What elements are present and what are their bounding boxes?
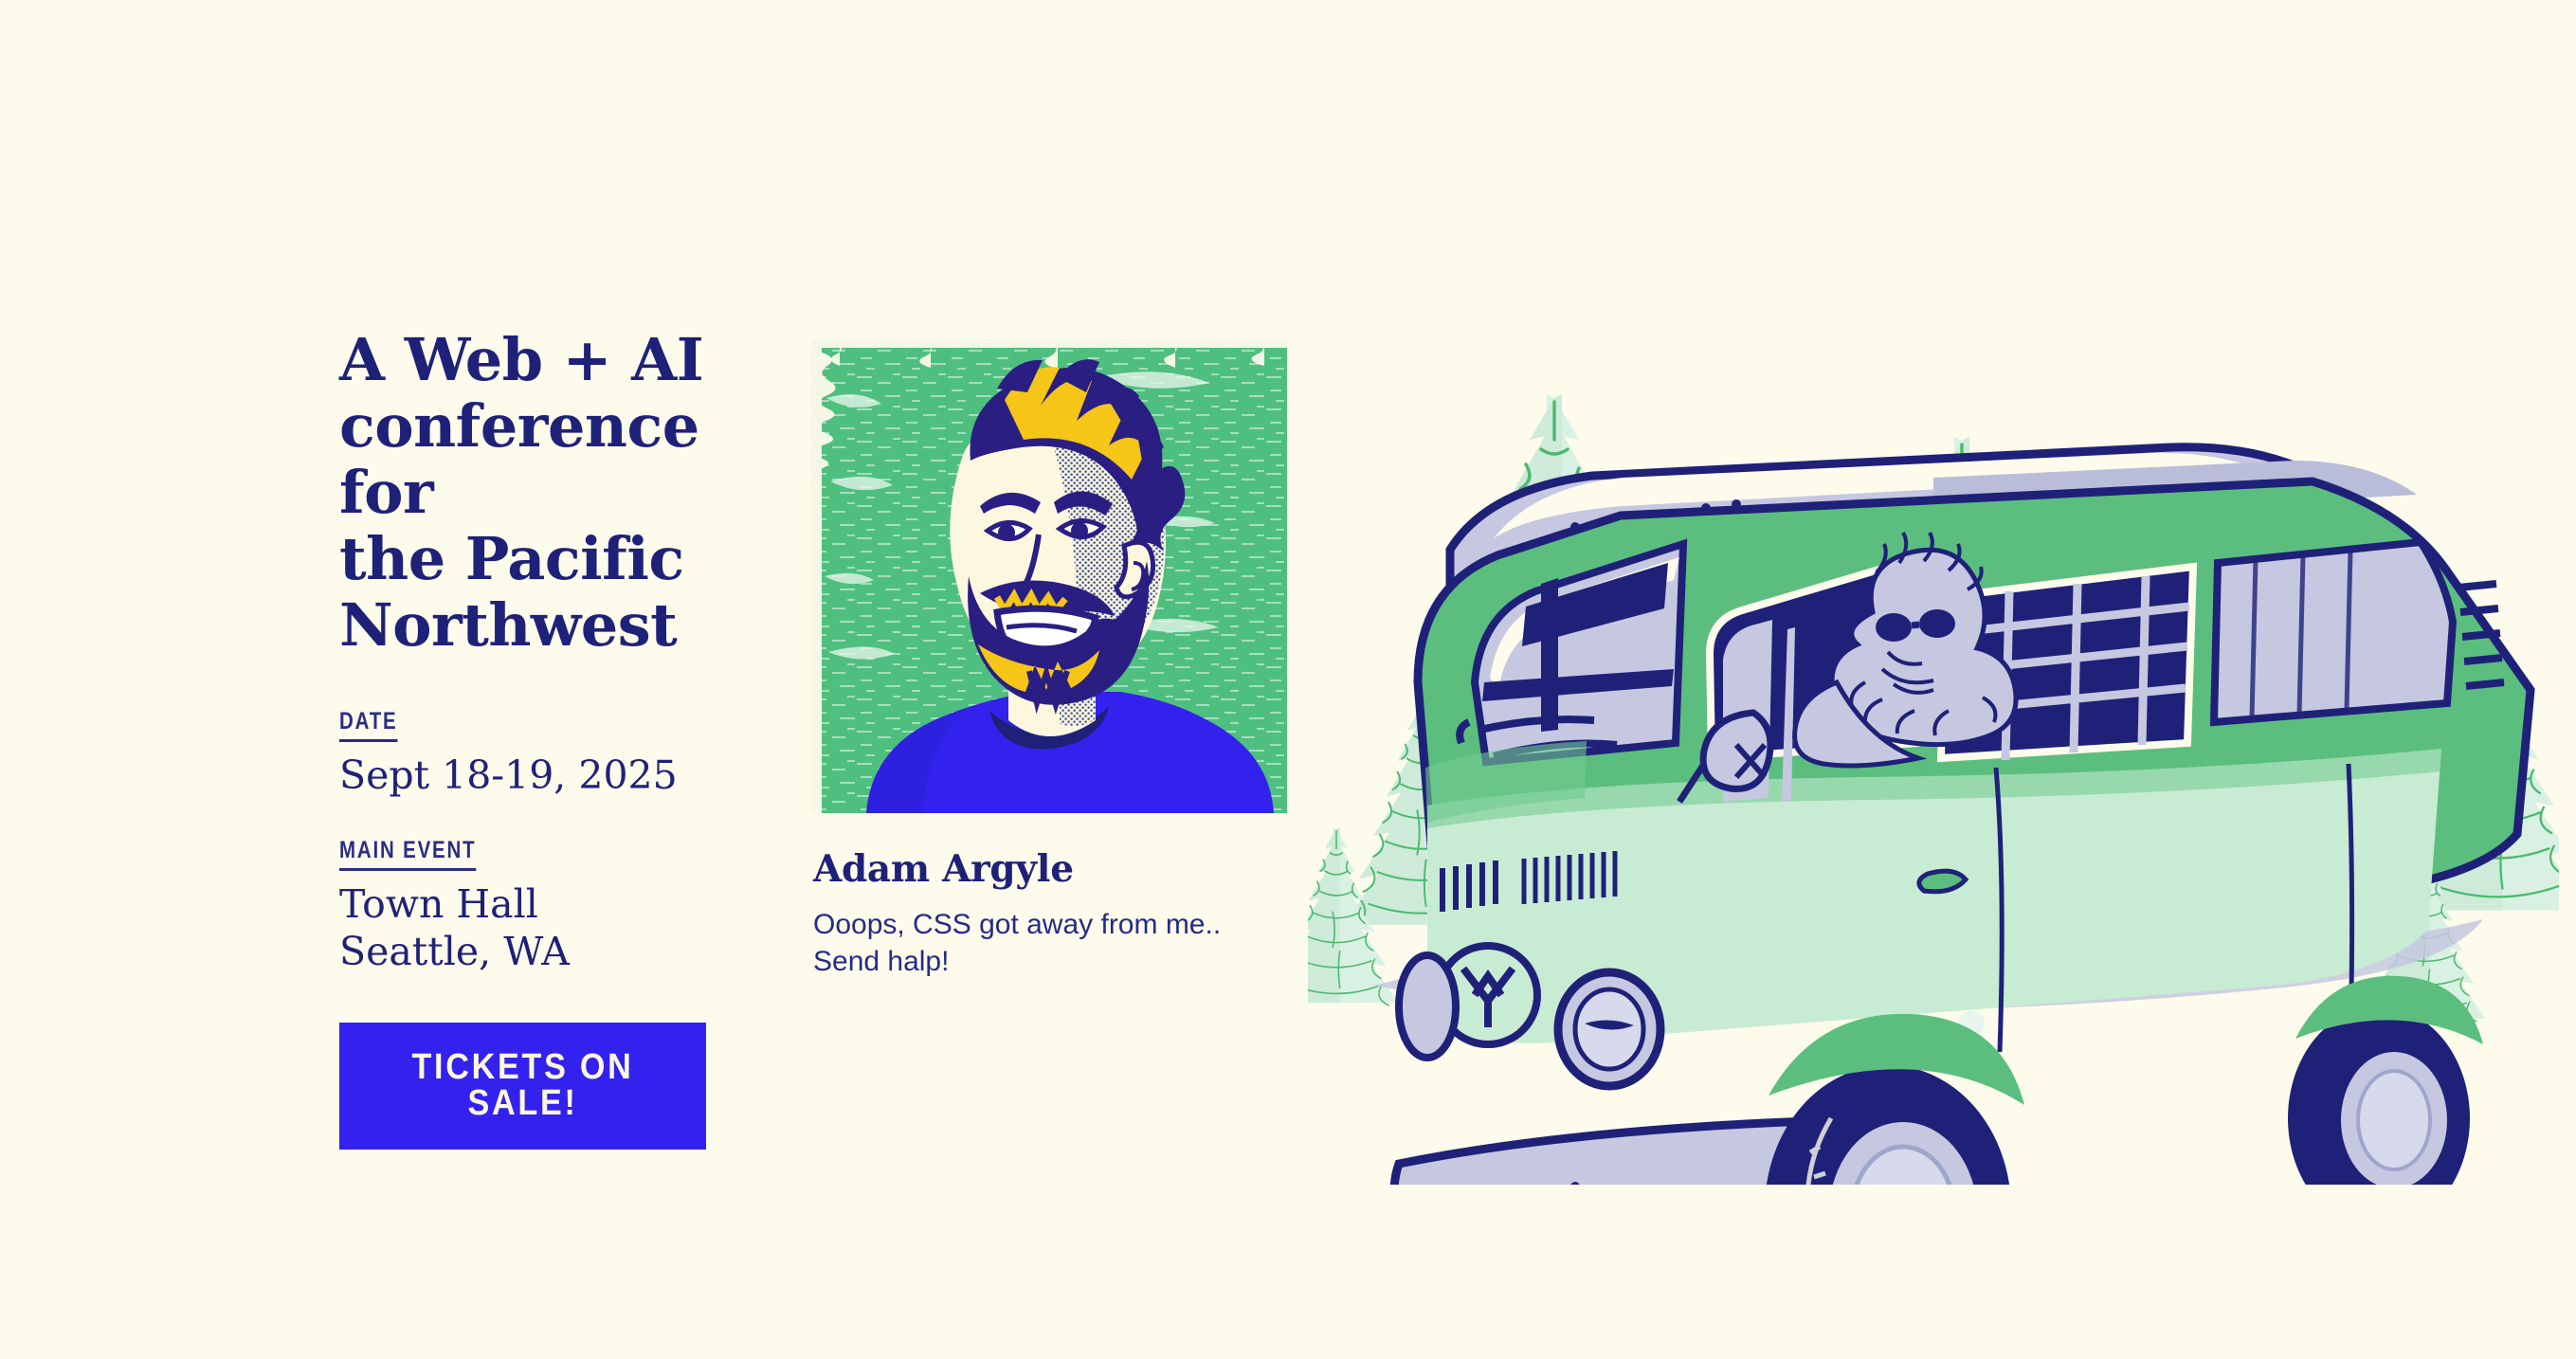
- speaker-portrait: [811, 339, 1287, 813]
- event-meta: DATE Sept 18-19, 2025 MAIN EVENT Town Ha…: [339, 708, 747, 975]
- tickets-on-sale-button[interactable]: TICKETS ON SALE!: [339, 1023, 706, 1150]
- hero-banner: A Web + AI conference for the Pacific No…: [0, 0, 2576, 1359]
- speaker-card[interactable]: Adam Argyle Ooops, CSS got away from me.…: [811, 339, 1287, 980]
- speaker-quote: Ooops, CSS got away from me.. Send halp!: [813, 906, 1287, 980]
- event-info-column: A Web + AI conference for the Pacific No…: [339, 327, 747, 1150]
- page-title: A Web + AI conference for the Pacific No…: [339, 327, 747, 659]
- camper-van-illustration: [1308, 237, 2559, 1185]
- meta-group-main-event: MAIN EVENT Town Hall Seattle, WA: [339, 837, 747, 975]
- speaker-name: Adam Argyle: [813, 847, 1287, 891]
- meta-group-date: DATE Sept 18-19, 2025: [339, 708, 747, 799]
- camper-van: [1394, 447, 2531, 1185]
- rear-wheel: [2288, 1006, 2470, 1185]
- meta-label-date: DATE: [339, 708, 398, 742]
- meta-value-main-event: Town Hall Seattle, WA: [339, 880, 747, 975]
- meta-value-date: Sept 18-19, 2025: [339, 752, 747, 799]
- meta-label-main-event: MAIN EVENT: [339, 837, 476, 871]
